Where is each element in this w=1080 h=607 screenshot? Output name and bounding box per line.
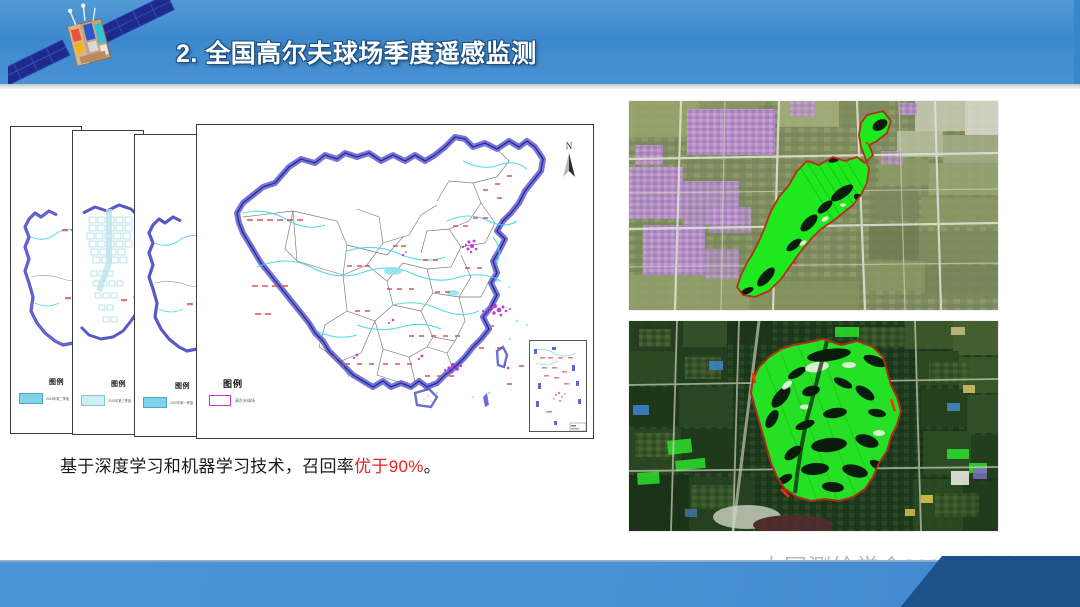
page-title: 2. 全国高尔夫球场季度遥感监测 xyxy=(176,42,537,67)
svg-text:N: N xyxy=(566,141,573,151)
legend-swatch-3 xyxy=(143,397,167,408)
caption-text: 基于深度学习和机器学习技术，召回率优于90%。 xyxy=(60,452,580,477)
golf-course-image-bottom[interactable] xyxy=(629,321,998,531)
slide-header: 2. 全国高尔夫球场季度遥感监测 xyxy=(0,0,1080,84)
caption-suffix: 。 xyxy=(424,457,441,476)
inset-map-south-china-sea xyxy=(529,340,587,432)
legend-title-1: 图例 xyxy=(49,377,64,387)
legend-label-3: 2020年第一季度 xyxy=(170,400,193,405)
caption-prefix: 基于深度学习和机器学习技术，召回率 xyxy=(60,457,354,476)
header-right-strip xyxy=(1074,0,1080,84)
legend-label-1: 2019年第二季度 xyxy=(46,396,69,401)
map-stack: 图例 2019年第二季度 xyxy=(10,124,594,442)
map-panel-china-main[interactable]: N 图例 高尔夫球场 xyxy=(196,124,594,439)
header-underline xyxy=(0,84,1080,89)
legend-title-main: 图例 xyxy=(223,377,243,390)
satellite-icon xyxy=(8,0,178,84)
legend-swatch-1 xyxy=(19,393,43,404)
compass-north-icon: N xyxy=(557,139,581,181)
legend-title-2: 图例 xyxy=(111,379,126,389)
legend-label-2: 2019年第三季度 xyxy=(108,398,131,403)
golf-course-image-top[interactable] xyxy=(629,101,998,310)
legend-swatch-main xyxy=(209,395,231,406)
caption-highlight: 优于90% xyxy=(354,457,424,476)
slide-root: 2. 全国高尔夫球场季度遥感监测 图例 2019年第二季度 xyxy=(0,0,1080,607)
legend-title-3: 图例 xyxy=(175,381,190,391)
legend-label-main: 高尔夫球场 xyxy=(235,398,255,404)
legend-swatch-2 xyxy=(81,395,105,406)
